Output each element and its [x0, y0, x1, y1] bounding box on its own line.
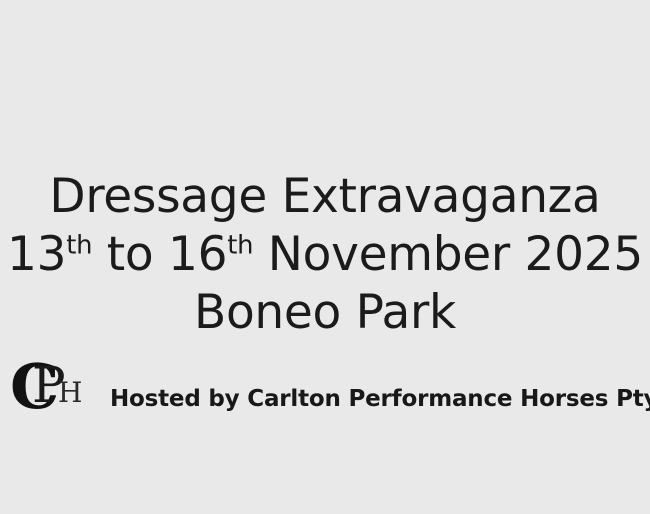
date-end-ordinal-suffix: th — [227, 230, 253, 260]
event-venue-line: Boneo Park — [0, 284, 650, 342]
date-start-day: 13 — [7, 227, 66, 282]
date-end-day: 16 — [168, 227, 227, 282]
headline-block: Dressage Extravaganza 13th to 16th Novem… — [0, 168, 650, 342]
date-month-year: November 2025 — [253, 227, 643, 282]
event-dates-line: 13th to 16th November 2025 — [0, 226, 650, 284]
date-start-ordinal-suffix: th — [66, 230, 92, 260]
event-title-slide: Dressage Extravaganza 13th to 16th Novem… — [0, 0, 650, 514]
event-title-line: Dressage Extravaganza — [0, 168, 650, 226]
cph-monogram-logo: C P H — [8, 350, 94, 414]
hosted-by-label: Hosted by Carlton Performance Horses Pty… — [110, 384, 640, 414]
monogram-letter-h: H — [58, 376, 82, 409]
date-range-join: to — [92, 227, 168, 282]
